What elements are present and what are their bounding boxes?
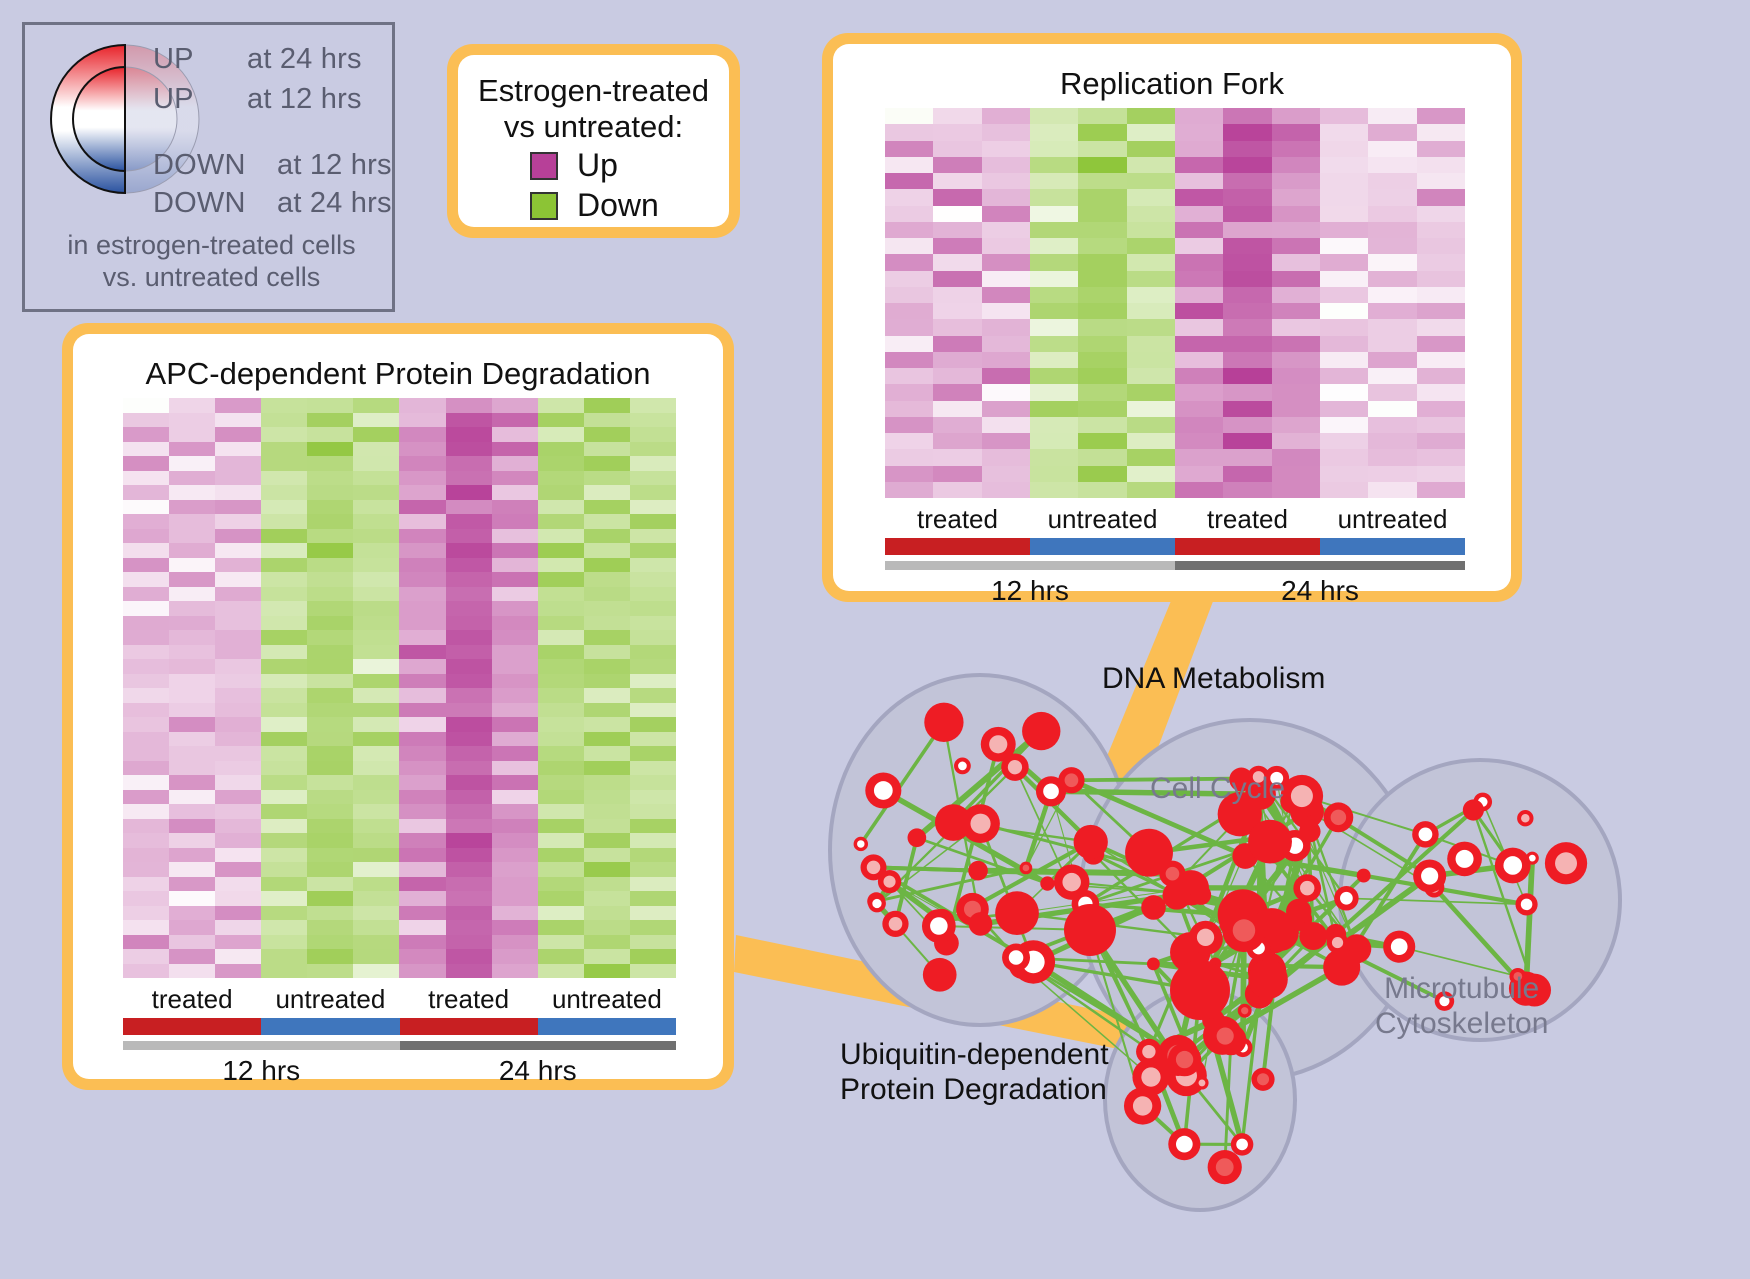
heatmap-cell (492, 761, 538, 776)
heatmap-cell (399, 804, 445, 819)
heatmap-cell (399, 645, 445, 660)
heatmap-cell (1078, 254, 1126, 270)
heatmap-cell (885, 482, 933, 498)
heatmap-cell (1272, 482, 1320, 498)
heatmap-cell (215, 804, 261, 819)
heatmap-cell (446, 848, 492, 863)
network-node[interactable] (1036, 776, 1066, 806)
heatmap-cell (982, 206, 1030, 222)
heatmap-cell (169, 413, 215, 428)
heatmap-cell (584, 398, 630, 413)
heatmap-cell (399, 848, 445, 863)
heatmap-cell (169, 746, 215, 761)
heatmap-cell (1417, 189, 1465, 205)
heatmap-cell (123, 572, 169, 587)
network-node[interactable] (924, 703, 963, 742)
heatmap-cell (446, 775, 492, 790)
heatmap-cell (1223, 141, 1271, 157)
heatmap-cell (215, 906, 261, 921)
heatmap-cell (538, 804, 584, 819)
heatmap-cell (353, 804, 399, 819)
network-node[interactable] (1002, 944, 1030, 972)
heatmap-cell (982, 466, 1030, 482)
heatmap-cell (1030, 368, 1078, 384)
network-node[interactable] (865, 772, 901, 808)
heatmap-cell (538, 703, 584, 718)
heatmap-cell (1417, 124, 1465, 140)
heatmap-cell (261, 949, 307, 964)
heatmap-cell (169, 833, 215, 848)
heatmap-cell (169, 645, 215, 660)
time-label: 12 hrs (123, 1055, 400, 1087)
heatmap-cell (1127, 433, 1175, 449)
heatmap-cell (446, 804, 492, 819)
heatmap-cell (169, 529, 215, 544)
heatmap-cell (1417, 287, 1465, 303)
network-node[interactable] (1495, 848, 1531, 884)
heatmap-cell (1320, 157, 1368, 173)
heatmap-cell (492, 543, 538, 558)
heatmap-cell (584, 688, 630, 703)
heatmap-cell (446, 833, 492, 848)
heatmap-cell (584, 471, 630, 486)
heatmap-cell (446, 616, 492, 631)
heatmap-cell (1320, 238, 1368, 254)
heatmap-cell (630, 935, 676, 950)
heatmap-cell (399, 732, 445, 747)
heatmap-cell (492, 906, 538, 921)
heatmap-cell (538, 862, 584, 877)
network-node[interactable] (961, 804, 1000, 843)
heatmap-cell (446, 413, 492, 428)
heatmap-cell (1223, 124, 1271, 140)
heatmap-cell (538, 514, 584, 529)
network-node[interactable] (1040, 876, 1054, 890)
apc-time-labels: 12 hrs24 hrs (123, 1055, 676, 1087)
heatmap-cell (885, 108, 933, 124)
heatmap-cell (215, 514, 261, 529)
heatmap-cell (933, 384, 981, 400)
heatmap-cell (1127, 206, 1175, 222)
network-node[interactable] (1189, 921, 1222, 954)
network-node[interactable] (1222, 909, 1265, 952)
heatmap-cell (399, 529, 445, 544)
heatmap-cell (1030, 238, 1078, 254)
heatmap-cell (1175, 449, 1223, 465)
network-node[interactable] (995, 891, 1039, 935)
network-node[interactable] (1147, 957, 1160, 970)
network-node[interactable] (1020, 862, 1033, 875)
heatmap-cell (1175, 482, 1223, 498)
heatmap-cell (261, 616, 307, 631)
heatmap-cell (353, 848, 399, 863)
heatmap-cell (169, 891, 215, 906)
network-node[interactable] (1064, 904, 1116, 956)
heatmap-cell (492, 456, 538, 471)
heatmap-cell (307, 645, 353, 660)
heatmap-cell (307, 659, 353, 674)
heatmap-cell (307, 442, 353, 457)
heatmap-cell (1417, 206, 1465, 222)
heatmap-cell (492, 500, 538, 515)
heatmap-cell (1127, 222, 1175, 238)
heatmap-cell (933, 287, 981, 303)
heatmap-cell (492, 630, 538, 645)
heatmap-cell (1175, 336, 1223, 352)
heatmap-cell (123, 964, 169, 979)
heatmap-cell (1417, 449, 1465, 465)
heatmap-cell (215, 775, 261, 790)
heatmap-cell (446, 645, 492, 660)
heatmap-cell (446, 398, 492, 413)
heatmap-cell (933, 108, 981, 124)
network-node[interactable] (1170, 960, 1230, 1020)
heatmap-cell (933, 482, 981, 498)
legend-item-down: Down (530, 187, 659, 224)
network-node[interactable] (1168, 1128, 1200, 1160)
network-node[interactable] (1412, 821, 1438, 847)
heatmap-cell (215, 398, 261, 413)
heatmap-cell (1223, 189, 1271, 205)
heatmap-cell (446, 427, 492, 442)
heatmap-cell (1320, 319, 1368, 335)
heatmap-cell (584, 500, 630, 515)
network-node[interactable] (1517, 810, 1533, 826)
heatmap-cell (1175, 401, 1223, 417)
heatmap-cell (1417, 417, 1465, 433)
heatmap-cell (1368, 173, 1416, 189)
heatmap-cell (584, 732, 630, 747)
heatmap-cell (1320, 368, 1368, 384)
heatmap-cell (307, 862, 353, 877)
heatmap-cell (1223, 173, 1271, 189)
heatmap-cell (261, 819, 307, 834)
heatmap-cell (1078, 417, 1126, 433)
heatmap-cell (169, 906, 215, 921)
heatmap-cell (123, 775, 169, 790)
heatmap-cell (630, 717, 676, 732)
heatmap-cell (1320, 287, 1368, 303)
heatmap-cell (123, 674, 169, 689)
network-node[interactable] (1463, 799, 1484, 820)
wheel-footer-line1: in estrogen-treated cells (25, 230, 398, 262)
heatmap-cell (1030, 384, 1078, 400)
network-node[interactable] (1231, 1133, 1253, 1155)
heatmap-cell (123, 746, 169, 761)
heatmap-cell (1320, 336, 1368, 352)
heatmap-cell (1078, 449, 1126, 465)
heatmap-cell (584, 746, 630, 761)
heatmap-cell (1272, 303, 1320, 319)
heatmap-cell (584, 485, 630, 500)
treatment-bar-segment (1320, 538, 1465, 555)
heatmap-cell (630, 529, 676, 544)
heatmap-cell (1272, 189, 1320, 205)
heatmap-cell (1272, 206, 1320, 222)
heatmap-cell (123, 732, 169, 747)
heatmap-cell (538, 848, 584, 863)
heatmap-cell (1127, 189, 1175, 205)
heatmap-cell (1417, 157, 1465, 173)
network-node[interactable] (1022, 712, 1060, 750)
network-node[interactable] (1168, 1043, 1201, 1076)
group-label: untreated (1030, 504, 1175, 535)
network-node[interactable] (1251, 1068, 1274, 1091)
network-node[interactable] (882, 911, 908, 937)
heatmap-cell (261, 587, 307, 602)
network-node[interactable] (1545, 842, 1587, 884)
heatmap-cell (933, 352, 981, 368)
heatmap-cell (1272, 401, 1320, 417)
heatmap-cell (399, 398, 445, 413)
heatmap-cell (1030, 141, 1078, 157)
legend-title: Estrogen-treated vs untreated: (458, 73, 729, 146)
network-node[interactable] (1074, 825, 1108, 859)
heatmap-cell (446, 790, 492, 805)
network-node[interactable] (1208, 1150, 1242, 1184)
heatmap-cell (261, 572, 307, 587)
network-node[interactable] (923, 958, 957, 992)
heatmap-cell (885, 206, 933, 222)
heatmap-cell (1417, 238, 1465, 254)
heatmap-cell (1030, 417, 1078, 433)
heatmap-cell (1320, 352, 1368, 368)
heatmap-cell (1320, 254, 1368, 270)
heatmap-cell (933, 401, 981, 417)
heatmap-cell (885, 173, 933, 189)
heatmap-cell (982, 384, 1030, 400)
heatmap-cell (538, 500, 584, 515)
heatmap-cell (1175, 124, 1223, 140)
heatmap-cell (630, 500, 676, 515)
heatmap-cell (1320, 222, 1368, 238)
heatmap-cell (399, 906, 445, 921)
heatmap-cell (446, 862, 492, 877)
heatmap-cell (123, 558, 169, 573)
heatmap-cell (584, 703, 630, 718)
network-node[interactable] (868, 895, 886, 913)
replication-fork-heatmap (885, 108, 1465, 498)
heatmap-cell (584, 543, 630, 558)
treatment-bar-segment (261, 1018, 399, 1035)
heatmap-cell (261, 761, 307, 776)
heatmap-cell (538, 616, 584, 631)
heatmap-cell (1272, 449, 1320, 465)
network-node[interactable] (1248, 959, 1288, 999)
network-node[interactable] (1334, 886, 1358, 910)
heatmap-cell (1127, 482, 1175, 498)
cluster-label-cell-cycle: Cell Cycle (1150, 772, 1285, 807)
heatmap-cell (584, 529, 630, 544)
heatmap-cell (353, 413, 399, 428)
heatmap-cell (353, 630, 399, 645)
heatmap-cell (982, 336, 1030, 352)
heatmap-cell (1368, 222, 1416, 238)
heatmap-cell (1078, 157, 1126, 173)
heatmap-cell (538, 920, 584, 935)
heatmap-cell (169, 848, 215, 863)
network-node[interactable] (1293, 874, 1321, 902)
heatmap-cell (1175, 271, 1223, 287)
heatmap-cell (1368, 108, 1416, 124)
heatmap-cell (630, 819, 676, 834)
heatmap-cell (492, 601, 538, 616)
heatmap-cell (885, 336, 933, 352)
network-node[interactable] (922, 909, 956, 943)
network-node[interactable] (1323, 949, 1360, 986)
network-node[interactable] (1163, 881, 1192, 910)
group-label: treated (400, 984, 538, 1015)
heatmap-cell (538, 761, 584, 776)
heatmap-cell (538, 485, 584, 500)
heatmap-cell (492, 616, 538, 631)
heatmap-cell (1223, 222, 1271, 238)
network-node[interactable] (1357, 869, 1371, 883)
ubiquitin-line1: Ubiquitin-dependent (840, 1038, 1109, 1073)
network-node[interactable] (1383, 931, 1415, 963)
network-node[interactable] (1136, 1039, 1162, 1065)
network-node[interactable] (1515, 893, 1537, 915)
heatmap-cell (399, 587, 445, 602)
heatmap-cell (169, 442, 215, 457)
network-node[interactable] (1248, 820, 1292, 864)
heatmap-cell (1272, 336, 1320, 352)
heatmap-cell (1272, 222, 1320, 238)
heatmap-cell (630, 703, 676, 718)
heatmap-cell (1030, 173, 1078, 189)
heatmap-cell (446, 688, 492, 703)
heatmap-cell (1368, 384, 1416, 400)
heatmap-cell (1368, 124, 1416, 140)
heatmap-cell (885, 271, 933, 287)
network-node[interactable] (1286, 899, 1311, 924)
heatmap-cell (933, 368, 981, 384)
heatmap-cell (982, 482, 1030, 498)
heatmap-cell (307, 848, 353, 863)
heatmap-cell (492, 833, 538, 848)
heatmap-cell (492, 935, 538, 950)
heatmap-cell (1030, 124, 1078, 140)
heatmap-cell (169, 949, 215, 964)
network-node[interactable] (1281, 775, 1323, 817)
heatmap-cell (492, 572, 538, 587)
heatmap-cell (123, 819, 169, 834)
heatmap-cell (446, 891, 492, 906)
heatmap-cell (1127, 238, 1175, 254)
network-node[interactable] (1209, 1020, 1242, 1053)
heatmap-cell (584, 862, 630, 877)
heatmap-cell (307, 891, 353, 906)
network-node[interactable] (908, 828, 927, 847)
heatmap-cell (1127, 368, 1175, 384)
heatmap-cell (307, 674, 353, 689)
heatmap-cell (399, 659, 445, 674)
heatmap-cell (1175, 141, 1223, 157)
heatmap-cell (630, 485, 676, 500)
network-node[interactable] (854, 837, 868, 851)
heatmap-cell (492, 645, 538, 660)
network-node[interactable] (969, 912, 993, 936)
heatmap-cell (215, 427, 261, 442)
heatmap-cell (1078, 271, 1126, 287)
network-node[interactable] (1125, 829, 1173, 877)
heatmap-cell (885, 466, 933, 482)
heatmap-cell (169, 804, 215, 819)
network-node[interactable] (1327, 932, 1349, 954)
network-node[interactable] (968, 861, 988, 881)
heatmap-cell (584, 587, 630, 602)
heatmap-cell (1223, 287, 1271, 303)
network-node[interactable] (1413, 860, 1446, 893)
heatmap-cell (885, 254, 933, 270)
heatmap-cell (261, 746, 307, 761)
heatmap-cell (215, 572, 261, 587)
heatmap-cell (215, 703, 261, 718)
heatmap-cell (446, 543, 492, 558)
heatmap-cell (307, 572, 353, 587)
heatmap-cell (885, 401, 933, 417)
heatmap-cell (933, 417, 981, 433)
heatmap-cell (492, 471, 538, 486)
heatmap-cell (982, 222, 1030, 238)
heatmap-cell (169, 964, 215, 979)
network-node[interactable] (1191, 885, 1211, 905)
heatmap-cell (492, 819, 538, 834)
heatmap-cell (123, 804, 169, 819)
heatmap-cell (261, 833, 307, 848)
heatmap-cell (584, 558, 630, 573)
heatmap-cell (933, 466, 981, 482)
network-node[interactable] (1001, 753, 1028, 780)
microtubule-line2: Cytoskeleton (1375, 1007, 1548, 1042)
heatmap-cell (307, 833, 353, 848)
network-node[interactable] (1323, 802, 1353, 832)
heatmap-cell (538, 601, 584, 616)
treatment-bar-segment (1175, 538, 1320, 555)
heatmap-cell (1078, 303, 1126, 319)
network-node[interactable] (1447, 842, 1482, 877)
heatmap-cell (1078, 222, 1126, 238)
network-node[interactable] (1238, 1004, 1252, 1018)
heatmap-cell (1320, 417, 1368, 433)
network-node[interactable] (1141, 895, 1166, 920)
heatmap-cell (169, 616, 215, 631)
heatmap-cell (982, 368, 1030, 384)
heatmap-cell (215, 558, 261, 573)
cluster-label-microtubule-cytoskeleton: Microtubule Cytoskeleton (1375, 972, 1548, 1041)
apc-time-bar (123, 1041, 676, 1050)
heatmap-cell (1030, 401, 1078, 417)
heatmap-cell (446, 761, 492, 776)
heatmap-cell (307, 485, 353, 500)
heatmap-cell (261, 688, 307, 703)
heatmap-cell (307, 500, 353, 515)
heatmap-cell (492, 775, 538, 790)
heatmap-cell (307, 775, 353, 790)
network-node[interactable] (861, 854, 887, 880)
heatmap-cell (307, 877, 353, 892)
heatmap-cell (399, 964, 445, 979)
heatmap-cell (1272, 319, 1320, 335)
network-node[interactable] (954, 758, 971, 775)
network-node[interactable] (1195, 1076, 1208, 1089)
heatmap-cell (215, 761, 261, 776)
heatmap-cell (584, 848, 630, 863)
heatmap-cell (261, 601, 307, 616)
heatmap-cell (630, 964, 676, 979)
heatmap-cell (1417, 368, 1465, 384)
heatmap-cell (538, 659, 584, 674)
